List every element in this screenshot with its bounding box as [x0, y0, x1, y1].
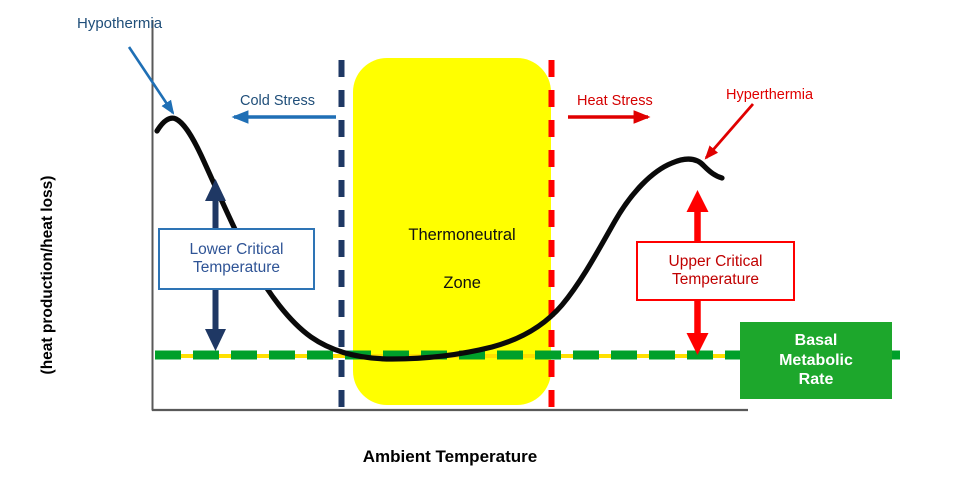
- lower-critical-temperature-line2: Temperature: [193, 259, 280, 277]
- hypothermia-arrow: [129, 47, 173, 113]
- lower-critical-temperature-line1: Lower Critical: [190, 241, 284, 259]
- upper-critical-temperature-line1: Upper Critical: [669, 253, 763, 271]
- heat-stress-label: Heat Stress: [577, 93, 653, 110]
- basal-metabolic-rate-box: Basal Metabolic Rate: [740, 322, 892, 399]
- y-axis-title-line2: (heat production/heat loss): [39, 150, 57, 400]
- cold-stress-label: Cold Stress: [240, 93, 315, 110]
- basal-metabolic-rate-line3: Rate: [799, 370, 834, 390]
- hyperthermia-arrow: [706, 104, 753, 158]
- y-axis-title: Metabolic Rate (heat production/heat los…: [0, 150, 94, 400]
- hyperthermia-label: Hyperthermia: [726, 87, 813, 104]
- hypothermia-label: Hypothermia: [77, 15, 162, 33]
- basal-metabolic-rate-line2: Metabolic: [779, 351, 853, 371]
- diagram-canvas: Metabolic Rate (heat production/heat los…: [0, 0, 953, 488]
- thermoneutral-zone-label-line1: Thermoneutral: [408, 226, 515, 244]
- basal-metabolic-rate-line1: Basal: [795, 331, 838, 351]
- y-axis-title-line1: Metabolic Rate: [0, 150, 3, 400]
- upper-critical-temperature-line2: Temperature: [672, 271, 759, 289]
- thermoneutral-zone-label: Thermoneutral Zone: [360, 200, 546, 320]
- upper-critical-temperature-box: Upper Critical Temperature: [636, 241, 795, 301]
- thermoneutral-zone-label-line2: Zone: [443, 274, 481, 292]
- x-axis-title: Ambient Temperature: [152, 447, 748, 467]
- lower-critical-temperature-box: Lower Critical Temperature: [158, 228, 315, 290]
